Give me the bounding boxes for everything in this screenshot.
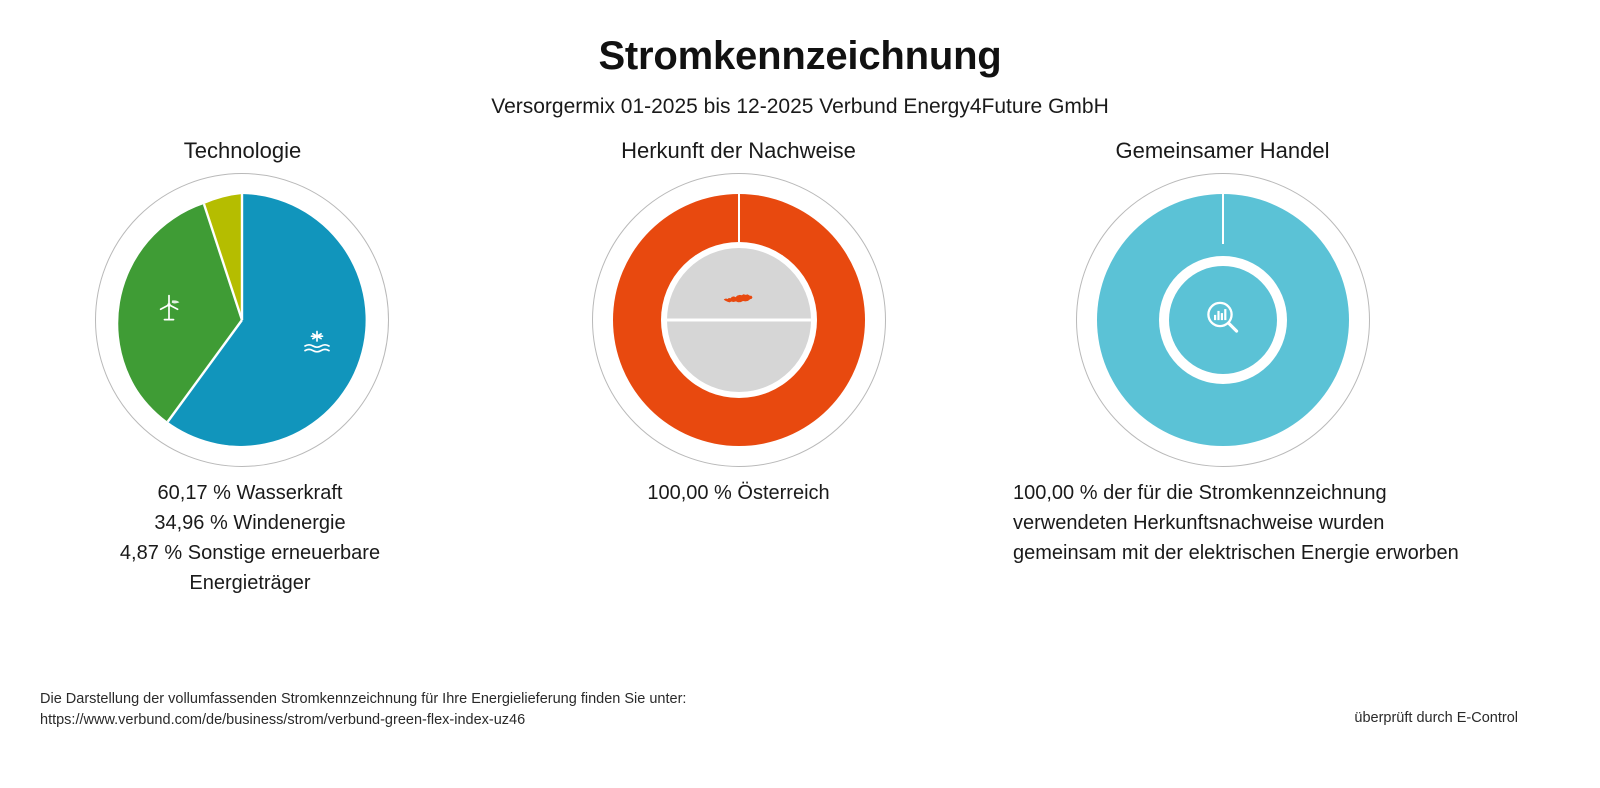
magnifier-barchart-icon [1202,297,1244,344]
trade-donut-ring[interactable] [1097,194,1349,446]
footer-url[interactable]: https://www.verbund.com/de/business/stro… [40,710,686,731]
footer-note: Die Darstellung der vollumfassenden Stro… [40,689,686,710]
column-heading-technologie: Technologie [40,133,445,169]
footer-note-block: Die Darstellung der vollumfassenden Stro… [40,689,686,731]
chart-columns: Technologie [0,133,1600,693]
herkunft-caption: 100,00 % Österreich [555,478,922,508]
magnifier-handle [1229,323,1237,331]
page-title: Stromkennzeichnung [0,34,1600,79]
handel-chart [1000,169,1500,474]
barchart-bars [1214,309,1226,320]
legend-line-1: 60,17 % Wasserkraft [40,478,460,508]
donut-start-notch [1222,194,1224,244]
legend-line-2: 34,96 % Windenergie [40,508,460,538]
hydro-power-icon [302,330,332,361]
column-technologie: Technologie [40,133,460,474]
austria-map-icon [722,290,756,311]
stromkennzeichnung-page: Stromkennzeichnung Versorgermix 01-2025 … [0,0,1600,788]
technologie-chart [40,169,460,474]
page-subtitle: Versorgermix 01-2025 bis 12-2025 Verbund… [0,95,1600,119]
technology-pie-svg [116,194,368,446]
origin-donut-ring[interactable] [613,194,865,446]
wind-turbine-icon [156,294,182,327]
column-gemeinsamer-handel: Gemeinsamer Handel [1000,133,1500,474]
column-heading-herkunft: Herkunft der Nachweise [555,133,922,169]
column-herkunft: Herkunft der Nachweise 100,00 % Österrei… [555,133,945,474]
footer-verified-by: überprüft durch E-Control [1354,710,1518,726]
technology-pie [116,194,368,446]
handel-caption: 100,00 % der für die Stromkennzeichnung … [1013,478,1483,568]
technologie-legend: 60,17 % Wasserkraft 34,96 % Windenergie … [40,478,460,598]
legend-line-4: Energieträger [40,568,460,598]
donut-inner-divider [667,319,811,322]
herkunft-chart [555,169,945,474]
donut-start-notch [738,194,740,242]
column-heading-handel: Gemeinsamer Handel [1000,133,1445,169]
austria-map-shape [724,294,753,302]
legend-line-3: 4,87 % Sonstige erneuerbare [40,538,460,568]
